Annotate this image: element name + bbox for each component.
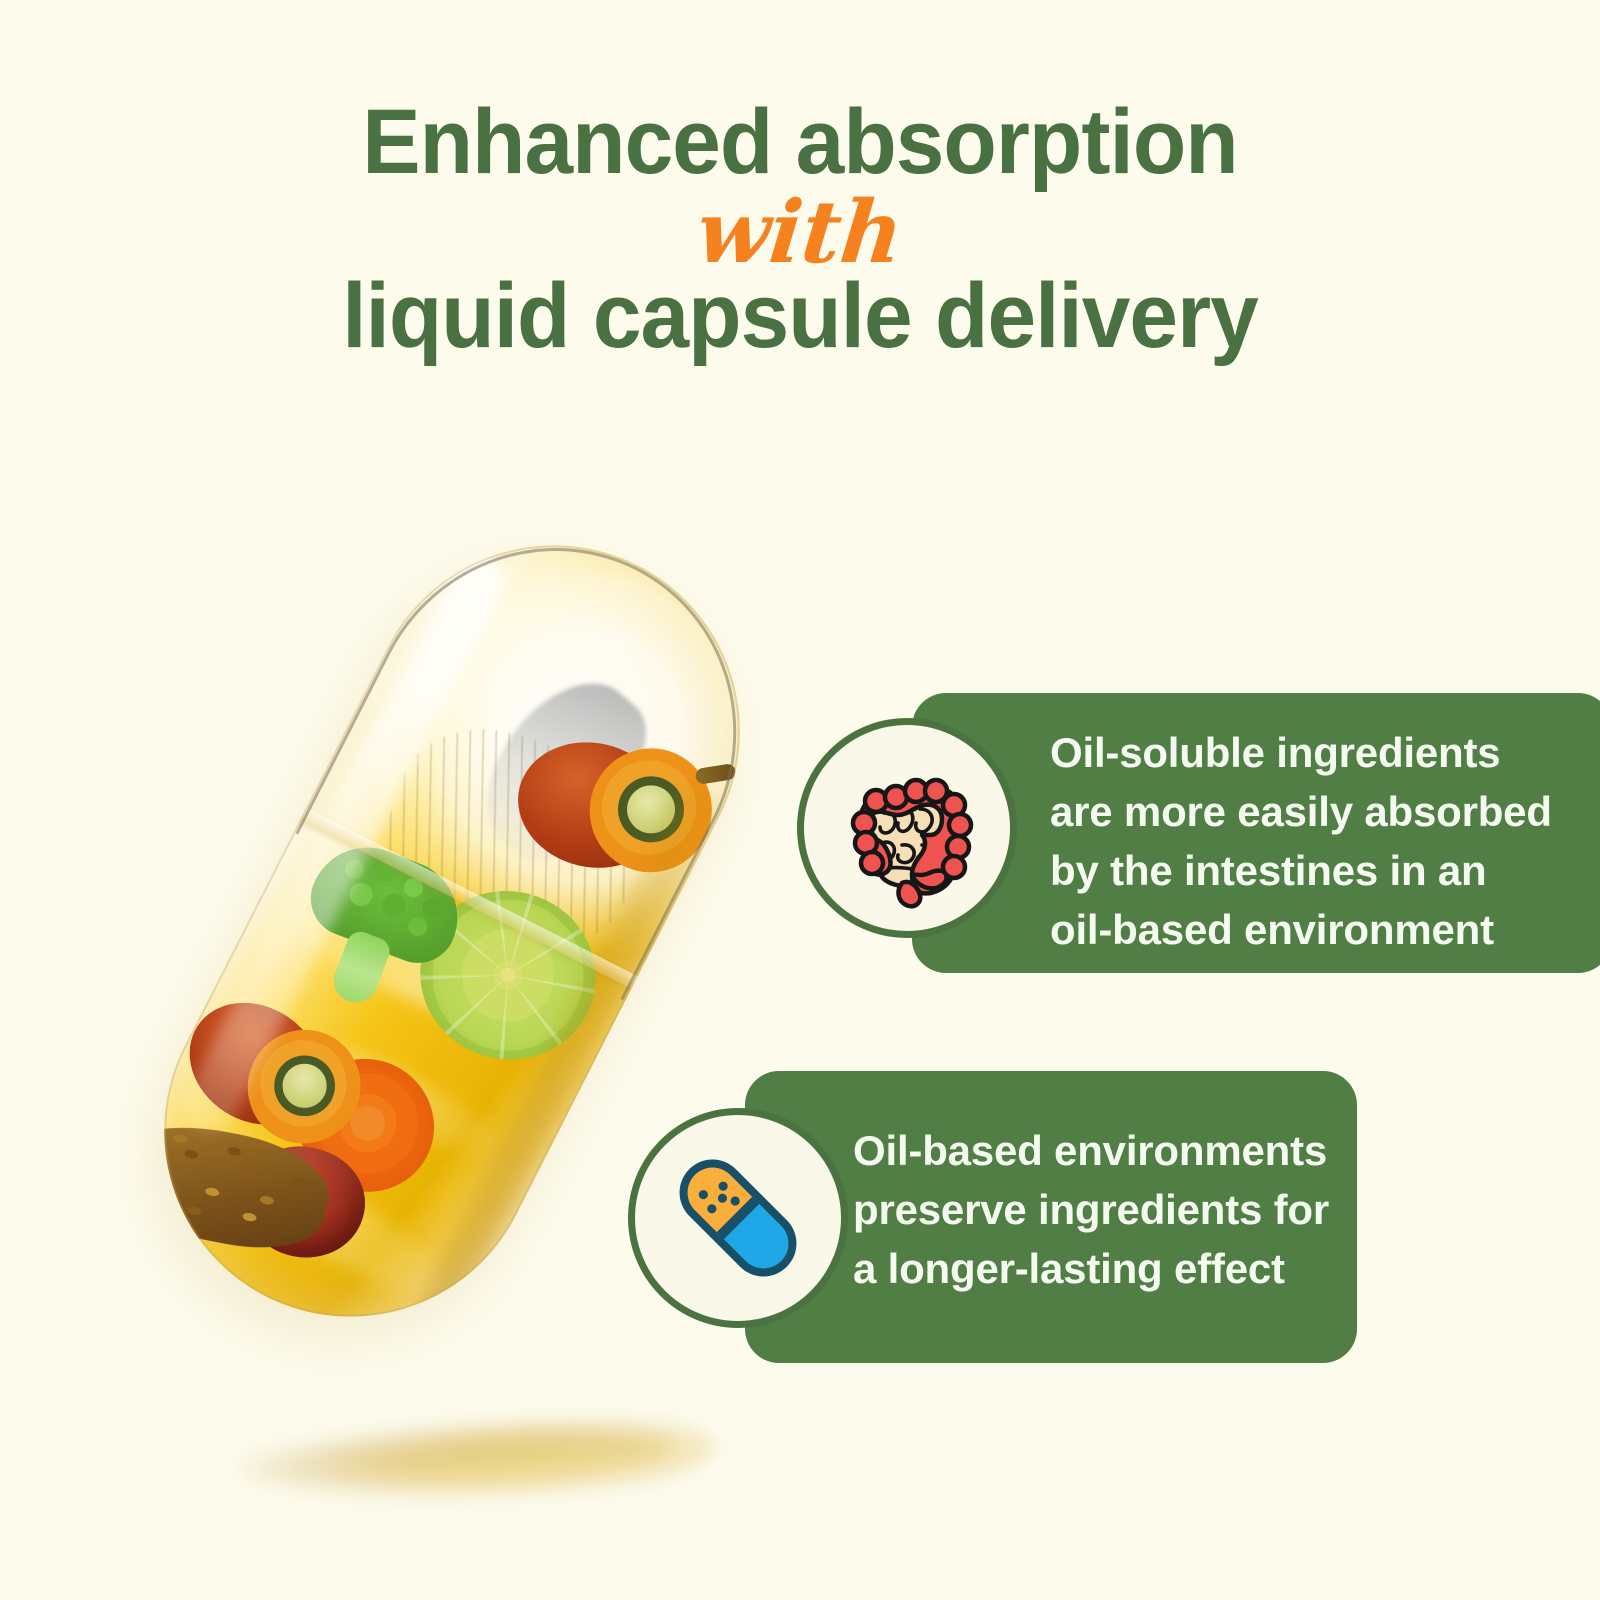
headline-block: Enhanced absorption with liquid capsule … bbox=[0, 96, 1600, 362]
intestines-icon bbox=[818, 739, 996, 917]
headline-line-2: liquid capsule delivery bbox=[40, 270, 1560, 362]
info-card-preservation-text: Oil-based environments preserve ingredie… bbox=[853, 1121, 1343, 1298]
headline-line-1: Enhanced absorption bbox=[40, 96, 1560, 188]
infographic-canvas: Enhanced absorption with liquid capsule … bbox=[0, 0, 1600, 1600]
headline-emphasis-with: with bbox=[11, 190, 1588, 276]
info-card-absorption-text: Oil-soluble ingredients are more easily … bbox=[1050, 723, 1590, 959]
pill-capsule-icon-badge bbox=[628, 1108, 848, 1328]
pill-capsule-icon bbox=[653, 1133, 823, 1303]
intestines-icon-badge bbox=[797, 718, 1017, 938]
